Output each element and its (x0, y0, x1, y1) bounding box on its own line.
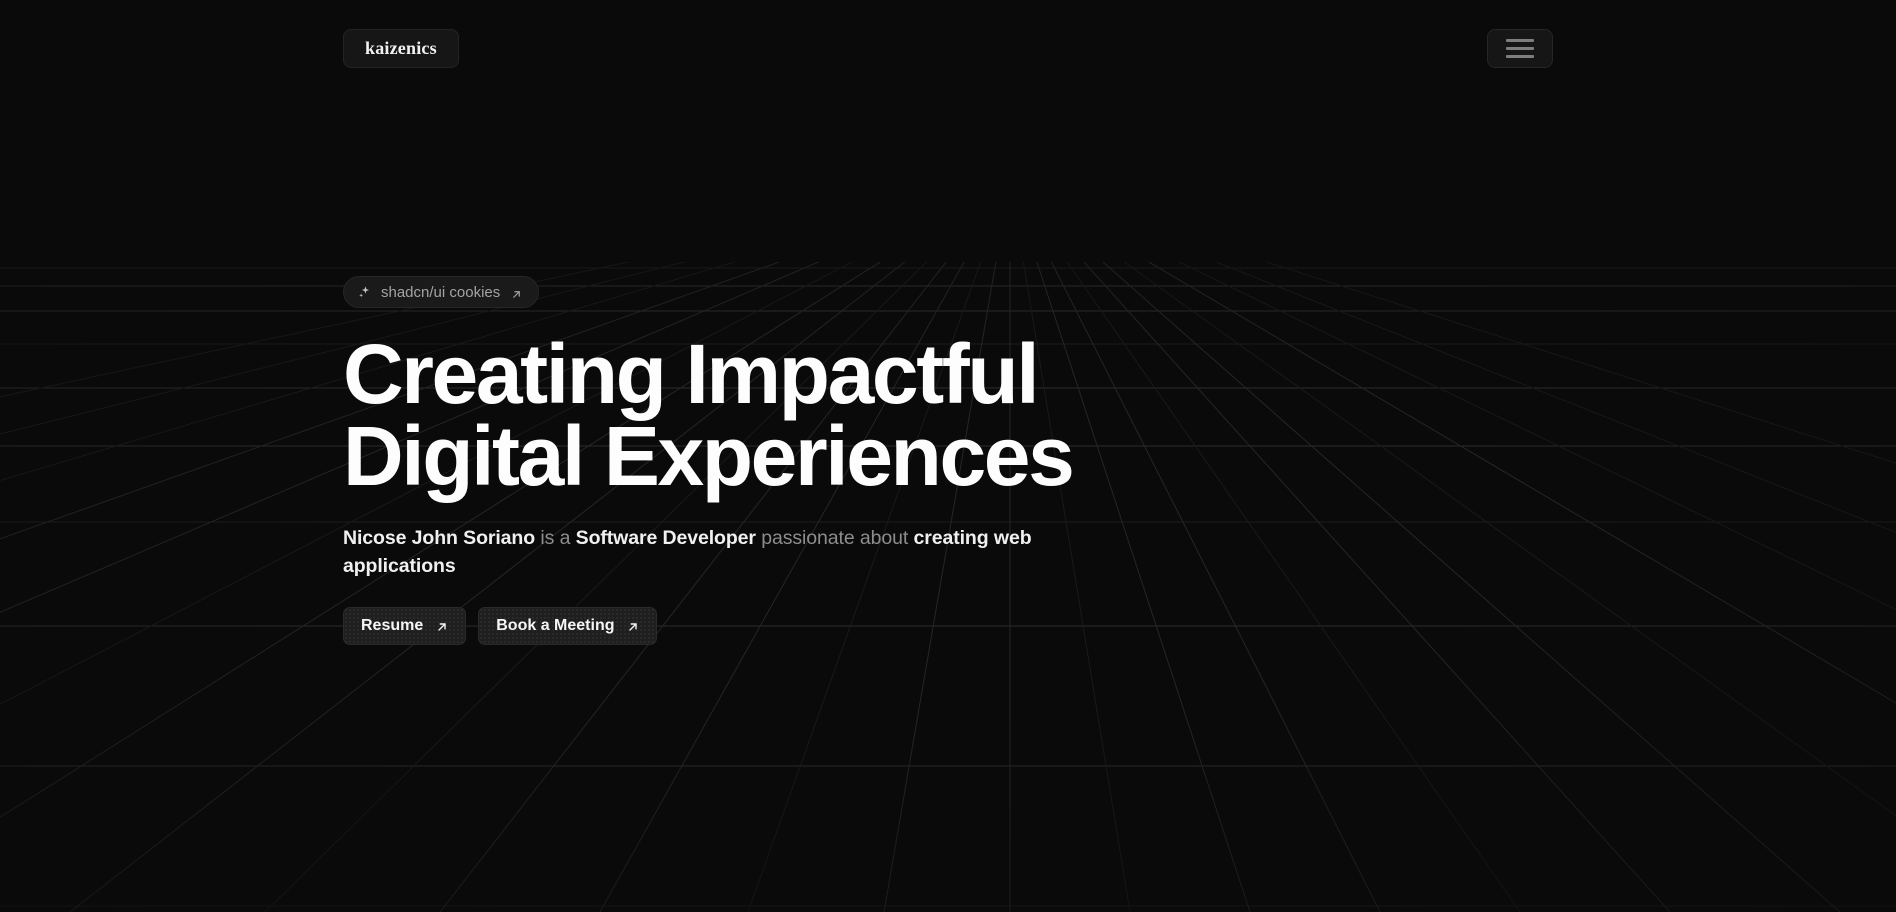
book-meeting-button-label: Book a Meeting (496, 617, 614, 635)
subtitle-connector-1: is a (535, 527, 576, 549)
hero-subtitle: Nicose John Soriano is a Software Develo… (343, 524, 1063, 581)
arrow-up-right-icon (511, 287, 522, 298)
badge-label: shadcn/ui cookies (381, 284, 500, 301)
subtitle-connector-2: passionate about (756, 527, 914, 549)
hero-cta-row: Resume Book a Meeting (343, 607, 1543, 645)
book-meeting-button[interactable]: Book a Meeting (478, 607, 657, 645)
sparkle-icon (357, 285, 372, 300)
hamburger-icon-bar-3 (1506, 55, 1534, 58)
hamburger-icon-bar-2 (1506, 47, 1534, 50)
logo-button[interactable]: kaizenics (343, 29, 459, 68)
hamburger-menu-button[interactable] (1487, 29, 1553, 68)
hamburger-icon-bar-1 (1506, 39, 1534, 42)
site-header: kaizenics (0, 0, 1896, 96)
shadcn-cookies-badge[interactable]: shadcn/ui cookies (343, 276, 539, 308)
resume-button[interactable]: Resume (343, 607, 466, 645)
arrow-up-right-icon (436, 620, 448, 632)
arrow-up-right-icon (627, 620, 639, 632)
subtitle-name: Nicose John Soriano (343, 527, 535, 549)
hero-section: shadcn/ui cookies Creating Impactful Dig… (343, 276, 1543, 645)
subtitle-role: Software Developer (576, 527, 756, 549)
page-title: Creating Impactful Digital Experiences (343, 333, 1543, 498)
resume-button-label: Resume (361, 617, 423, 635)
logo-text: kaizenics (365, 38, 437, 59)
